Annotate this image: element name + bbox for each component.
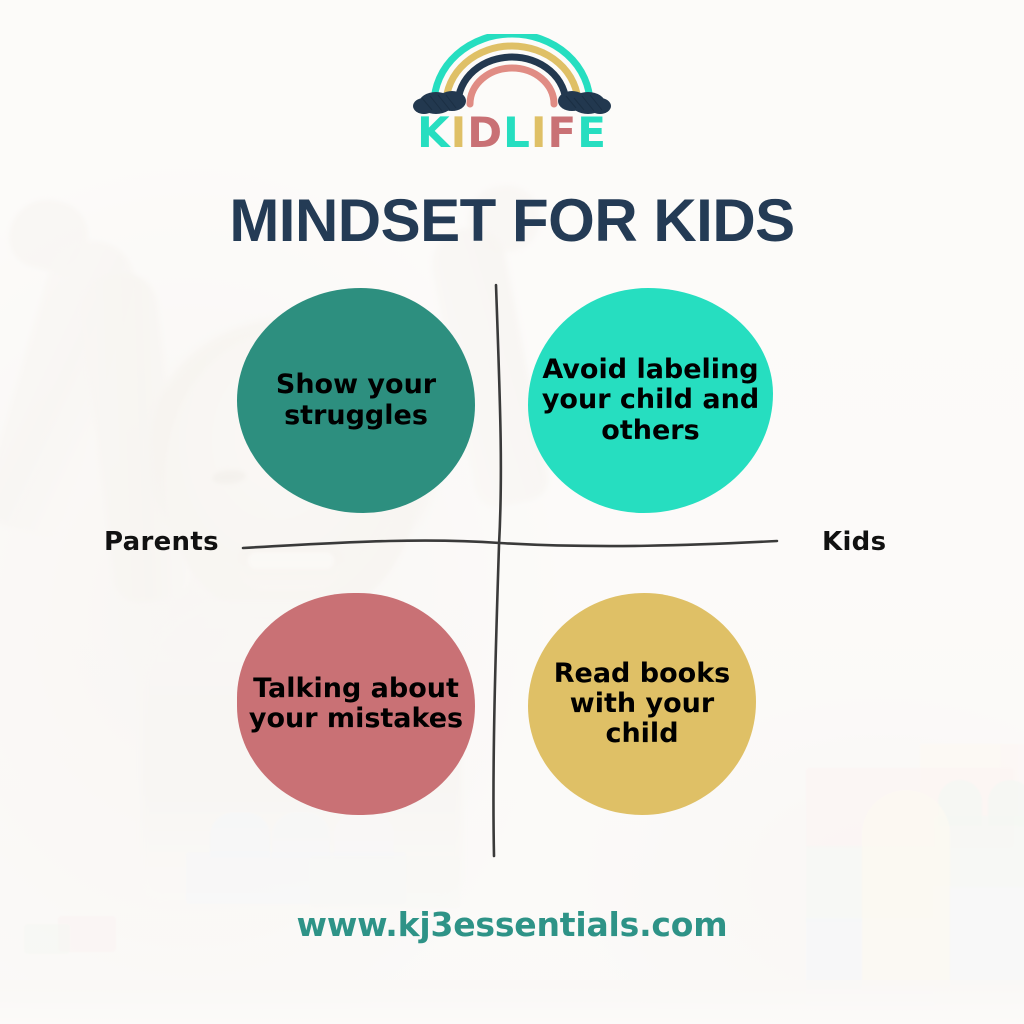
quadrant-top-right-text: Avoid labeling your child and others: [528, 355, 773, 446]
quadrant-bottom-left-text: Talking about your mistakes: [237, 674, 475, 734]
horizontal-axis-line: [243, 541, 777, 548]
quadrant-bottom-right-text: Read books with your child: [528, 659, 756, 750]
quadrant-top-left-text: Show your struggles: [237, 370, 475, 430]
quadrant-bottom-left[interactable]: Talking about your mistakes: [237, 593, 475, 815]
quadrant-axes: [0, 0, 1024, 1024]
axis-label-kids: Kids: [822, 527, 886, 557]
infographic-canvas: KIDLIFE MINDSET FOR KIDS Parents Kids Sh…: [0, 0, 1024, 1024]
quadrant-top-left[interactable]: Show your struggles: [237, 288, 475, 513]
quadrant-bottom-right[interactable]: Read books with your child: [528, 593, 756, 815]
axis-label-parents: Parents: [104, 527, 219, 557]
website-url[interactable]: www.kj3essentials.com: [0, 905, 1024, 944]
vertical-axis-line: [493, 285, 500, 856]
